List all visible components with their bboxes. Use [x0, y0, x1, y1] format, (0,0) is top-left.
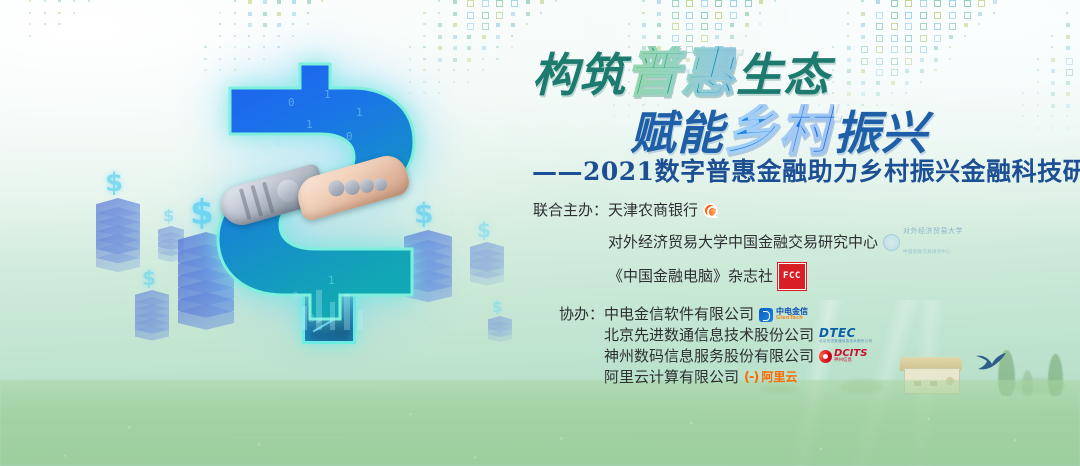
title-word-puhui: 普惠 — [626, 46, 736, 100]
dtec-logo: DTEC 北京先进数通信息技术股份公司 — [819, 327, 872, 344]
title-word-shengtai: 生态 — [736, 52, 830, 98]
svg-text:0: 0 — [288, 96, 295, 109]
title-line-2: 赋能乡村振兴 — [520, 104, 1060, 158]
banner-subtitle: ——2021数字普惠金融助力乡村振兴金融科技研讨会 — [532, 152, 1080, 188]
coin-stack: $ — [96, 198, 140, 284]
uibe-seal-icon — [883, 234, 900, 251]
co-organizer-item: 神州数码信息服务股份有限公司 DCITS 神州信息 — [604, 346, 872, 367]
coin-stack: $ — [135, 290, 169, 368]
dcits-logo-sub: 神州信息 — [834, 359, 867, 364]
organizer-name: 天津农商银行 — [608, 200, 698, 221]
gientech-mark-icon — [759, 308, 773, 322]
dcits-swirl-icon — [819, 350, 832, 363]
aliyun-logo: (-) 阿里云 — [744, 367, 797, 388]
title-word-funeng: 赋能 — [630, 110, 724, 156]
co-organizer-name: 阿里云计算有限公司 — [604, 367, 739, 388]
svg-text:1: 1 — [356, 106, 363, 119]
co-organizer-name: 北京先进数通信息技术股份公司 — [604, 325, 814, 346]
svg-text:1: 1 — [354, 296, 361, 309]
organizers-group: 联合主办： 天津农商银行 对外经济贸易大学中国金融交易研究中心 对外经济贸易大学… — [533, 200, 1053, 290]
co-organizer-item: 中电金信软件有限公司 中电金信 GienTech — [604, 304, 872, 325]
organizer-block: 联合主办： 天津农商银行 对外经济贸易大学中国金融交易研究中心 对外经济贸易大学… — [533, 200, 1053, 402]
gientech-logo-sub: GienTech — [776, 316, 808, 321]
title-word-gouzhu: 构筑 — [532, 52, 626, 98]
svg-text:1: 1 — [324, 88, 331, 101]
hero-dollar-graphic: 011 100 101 0 — [196, 54, 436, 364]
svg-text:0: 0 — [274, 136, 281, 149]
dcits-logo: DCITS 神州信息 — [819, 349, 867, 364]
organizer-name: 对外经济贸易大学中国金融交易研究中心 — [608, 232, 878, 253]
aliyun-logo-main: 阿里云 — [761, 367, 797, 388]
organizer-name: 《中国金融电脑》杂志社 — [608, 266, 773, 287]
banner-title: 构筑普惠生态 赋能乡村振兴 — [520, 46, 1060, 158]
conference-banner: $ $ $ $ $ — [0, 0, 1080, 466]
title-line-1: 构筑普惠生态 — [520, 46, 1060, 100]
aliyun-mark-icon: (-) — [744, 367, 758, 388]
title-word-xiangcun: 乡村 — [724, 104, 834, 158]
co-organizer-item: 阿里云计算有限公司 (-) 阿里云 — [604, 367, 872, 388]
title-word-zhenxing: 振兴 — [834, 110, 928, 156]
gientech-logo: 中电金信 GienTech — [759, 308, 808, 322]
svg-text:1: 1 — [306, 118, 313, 131]
svg-text:0: 0 — [292, 290, 299, 303]
co-organizers-label: 协办： — [559, 304, 604, 325]
uibe-logo-sub: 中国金融交易研究中心 — [903, 242, 963, 263]
organizer-item: 《中国金融电脑》杂志社 FCC — [608, 263, 963, 290]
co-organizer-name: 神州数码信息服务股份有限公司 — [604, 346, 814, 367]
svg-text:0: 0 — [346, 130, 353, 143]
fcc-logo: FCC — [778, 263, 806, 290]
uibe-logo-main: 对外经济贸易大学 — [903, 221, 963, 242]
co-organizers-group: 协办： 中电金信软件有限公司 中电金信 GienTech 北京先进数通信息技术股… — [533, 304, 1053, 388]
co-organizer-name: 中电金信软件有限公司 — [604, 304, 754, 325]
dtec-logo-main: DTEC — [819, 327, 856, 339]
uibe-seal-logo: 对外经济贸易大学 中国金融交易研究中心 — [883, 221, 963, 263]
svg-text:1: 1 — [328, 274, 335, 287]
dtec-logo-sub: 北京先进数通信息技术股份公司 — [819, 340, 872, 344]
coin-stack: $ — [488, 316, 512, 368]
organizer-item: 天津农商银行 — [608, 200, 963, 221]
organizers-label: 联合主办： — [533, 200, 608, 221]
organizer-item: 对外经济贸易大学中国金融交易研究中心 对外经济贸易大学 中国金融交易研究中心 — [608, 221, 963, 263]
svg-text:0: 0 — [308, 312, 315, 325]
tjrcb-spiral-logo — [703, 203, 718, 218]
co-organizer-item: 北京先进数通信息技术股份公司 DTEC 北京先进数通信息技术股份公司 — [604, 325, 872, 346]
